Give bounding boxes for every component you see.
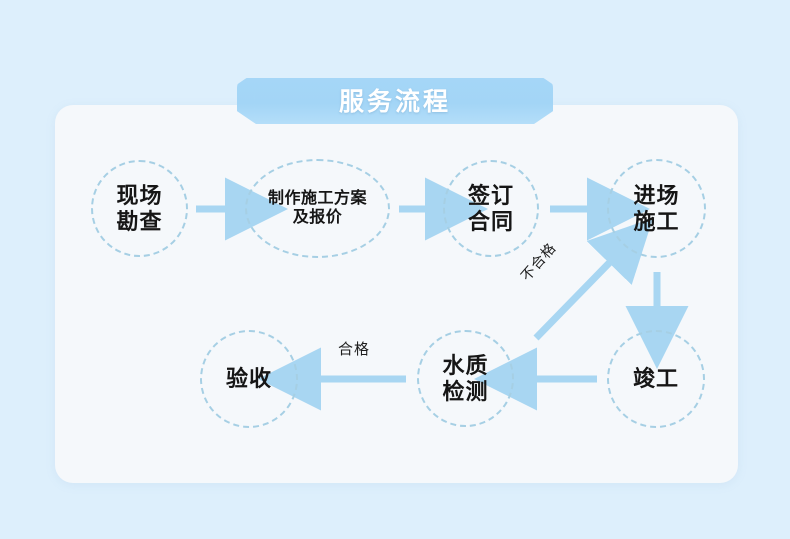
page-title: 服务流程 [237,78,553,124]
flowchart-canvas: 服务流程 [0,0,790,539]
node-label: 现场 勘查 [116,183,162,235]
node-label: 验收 [226,366,272,392]
title-banner: 服务流程 [237,78,553,124]
edge-label-pass: 合格 [338,338,370,359]
node-enter-site-construction[interactable]: 进场 施工 [607,159,706,258]
flowchart-card [55,105,738,483]
node-water-quality-test[interactable]: 水质 检测 [417,330,514,427]
node-completion[interactable]: 竣工 [607,330,705,428]
node-label: 水质 检测 [442,353,488,405]
node-sign-contract[interactable]: 签订 合同 [443,160,539,257]
node-acceptance[interactable]: 验收 [200,330,298,428]
node-label: 制作施工方案 及报价 [268,190,367,228]
node-label: 进场 施工 [633,183,679,235]
node-label: 竣工 [633,366,679,392]
node-label: 签订 合同 [468,183,514,235]
node-site-survey[interactable]: 现场 勘查 [91,160,188,257]
node-construction-plan-quote[interactable]: 制作施工方案 及报价 [245,159,390,258]
